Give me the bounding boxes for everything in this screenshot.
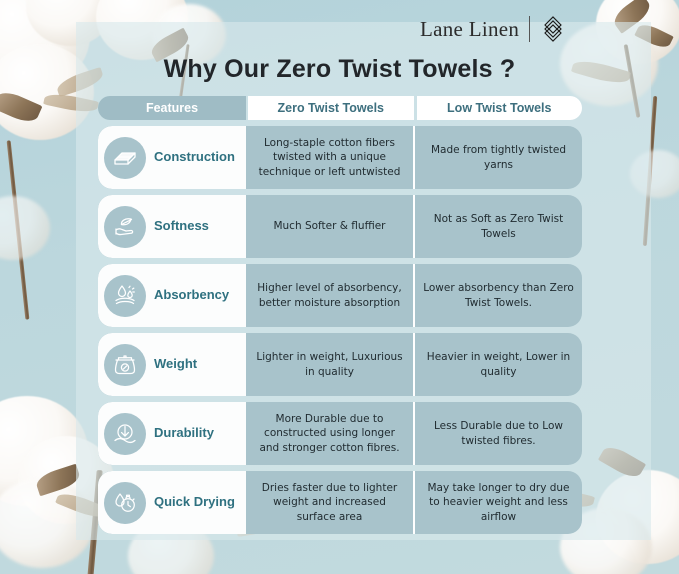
zero-twist-cell: Dries faster due to lighter weight and i… — [246, 471, 415, 534]
feature-cell: Quick Drying — [98, 471, 246, 534]
page-title: Why Our Zero Twist Towels ? — [0, 55, 679, 84]
water-droplet-absorb-icon — [104, 275, 146, 317]
feature-cell: Durability — [98, 402, 246, 465]
cotton-boll — [0, 196, 50, 260]
feature-label: Durability — [154, 426, 214, 441]
low-twist-cell: May take longer to dry due to heavier we… — [415, 471, 582, 534]
comparison-table: Features Zero Twist Towels Low Twist Tow… — [98, 96, 582, 540]
table-row: Durability More Durable due to construct… — [98, 402, 582, 465]
kitchen-scale-icon — [104, 344, 146, 386]
table-row: Weight Lighter in weight, Luxurious in q… — [98, 333, 582, 396]
feature-label: Absorbency — [154, 288, 229, 303]
brand-wordmark: Lane Linen — [420, 17, 519, 42]
low-twist-cell: Made from tightly twisted yarns — [415, 126, 582, 189]
feature-label: Softness — [154, 219, 209, 234]
table-row: Construction Long-staple cotton fibers t… — [98, 126, 582, 189]
low-twist-cell: Lower absorbency than Zero Twist Towels. — [415, 264, 582, 327]
feature-label: Quick Drying — [154, 495, 235, 510]
feature-cell: Absorbency — [98, 264, 246, 327]
brand-divider — [529, 16, 530, 42]
feature-cell: Construction — [98, 126, 246, 189]
zero-twist-cell: Much Softer & fluffier — [246, 195, 415, 258]
header-zero-twist-towels: Zero Twist Towels — [248, 96, 414, 120]
header-low-twist-towels: Low Twist Towels — [417, 96, 583, 120]
woven-diamond-logo-icon — [540, 16, 566, 42]
table-row: Softness Much Softer & fluffier Not as S… — [98, 195, 582, 258]
low-twist-cell: Not as Soft as Zero Twist Towels — [415, 195, 582, 258]
down-arrow-circle-icon — [104, 413, 146, 455]
table-header-row: Features Zero Twist Towels Low Twist Tow… — [98, 96, 582, 120]
header-features: Features — [98, 96, 246, 120]
folded-towel-icon — [104, 137, 146, 179]
droplet-stopwatch-icon — [104, 482, 146, 524]
feature-label: Construction — [154, 150, 235, 165]
zero-twist-cell: Long-staple cotton fibers twisted with a… — [246, 126, 415, 189]
low-twist-cell: Heavier in weight, Lower in quality — [415, 333, 582, 396]
brand-lockup: Lane Linen — [420, 16, 566, 42]
table-row: Absorbency Higher level of absorbency, b… — [98, 264, 582, 327]
feature-label: Weight — [154, 357, 197, 372]
zero-twist-cell: Higher level of absorbency, better moist… — [246, 264, 415, 327]
table-row: Quick Drying Dries faster due to lighter… — [98, 471, 582, 534]
zero-twist-cell: More Durable due to constructed using lo… — [246, 402, 415, 465]
feature-cell: Softness — [98, 195, 246, 258]
low-twist-cell: Less Durable due to Low twisted fibres. — [415, 402, 582, 465]
hand-feather-icon — [104, 206, 146, 248]
zero-twist-cell: Lighter in weight, Luxurious in quality — [246, 333, 415, 396]
feature-cell: Weight — [98, 333, 246, 396]
